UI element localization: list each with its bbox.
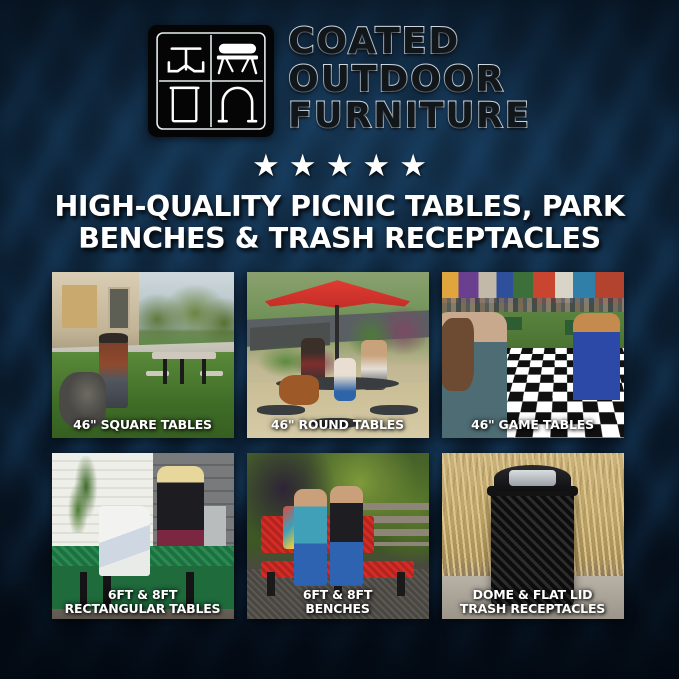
brand-word-outdoor: OUTDOOR — [288, 62, 531, 99]
product-tile-round-tables[interactable]: 46" ROUND TABLES — [247, 272, 429, 438]
product-caption-game-tables: 46" GAME TABLES — [442, 418, 624, 432]
star-icon-2: ★ — [289, 150, 317, 181]
caption-line-2: BENCHES — [250, 602, 426, 616]
star-icon-5: ★ — [399, 150, 427, 181]
star-icon-3: ★ — [326, 150, 354, 181]
product-photo-game-tables — [442, 272, 624, 438]
banner-content: COATED OUTDOOR FURNITURE ★ ★ ★ ★ ★ HIGH-… — [0, 0, 679, 619]
headline-line-2: BENCHES & TRASH RECEPTACLES — [26, 223, 653, 255]
product-grid: 46" SQUARE TABLES 46" — [52, 272, 628, 619]
product-caption-rectangular-tables: 6FT & 8FT RECTANGULAR TABLES — [52, 588, 234, 616]
star-icon-4: ★ — [362, 150, 390, 181]
product-tile-rectangular-tables[interactable]: 6FT & 8FT RECTANGULAR TABLES — [52, 453, 234, 619]
brand-wordmark: COATED OUTDOOR FURNITURE — [288, 24, 531, 138]
caption-line-1: 46" ROUND TABLES — [250, 418, 426, 432]
product-tile-trash-receptacles[interactable]: DOME & FLAT LID TRASH RECEPTACLES — [442, 453, 624, 619]
promo-banner: COATED OUTDOOR FURNITURE ★ ★ ★ ★ ★ HIGH-… — [0, 0, 679, 679]
brand-word-coated: COATED — [288, 24, 531, 61]
product-tile-game-tables[interactable]: 46" GAME TABLES — [442, 272, 624, 438]
product-photo-square-tables — [52, 272, 234, 438]
furniture-grid-icon — [148, 25, 274, 137]
product-caption-round-tables: 46" ROUND TABLES — [247, 418, 429, 432]
product-photo-round-tables — [247, 272, 429, 438]
caption-line-1: 46" SQUARE TABLES — [55, 418, 231, 432]
headline: HIGH-QUALITY PICNIC TABLES, PARK BENCHES… — [0, 191, 679, 255]
product-caption-square-tables: 46" SQUARE TABLES — [52, 418, 234, 432]
brand-word-furniture: FURNITURE — [288, 99, 531, 135]
product-tile-benches[interactable]: 6FT & 8FT BENCHES — [247, 453, 429, 619]
caption-line-1: 46" GAME TABLES — [445, 418, 621, 432]
product-caption-trash-receptacles: DOME & FLAT LID TRASH RECEPTACLES — [442, 588, 624, 616]
star-icon-1: ★ — [252, 150, 280, 181]
star-rating: ★ ★ ★ ★ ★ — [0, 150, 679, 181]
brand-logo: COATED OUTDOOR FURNITURE — [0, 0, 679, 138]
caption-line-2: TRASH RECEPTACLES — [445, 602, 621, 616]
product-tile-square-tables[interactable]: 46" SQUARE TABLES — [52, 272, 234, 438]
headline-line-1: HIGH-QUALITY PICNIC TABLES, PARK — [26, 191, 653, 223]
product-caption-benches: 6FT & 8FT BENCHES — [247, 588, 429, 616]
caption-line-2: RECTANGULAR TABLES — [55, 602, 231, 616]
